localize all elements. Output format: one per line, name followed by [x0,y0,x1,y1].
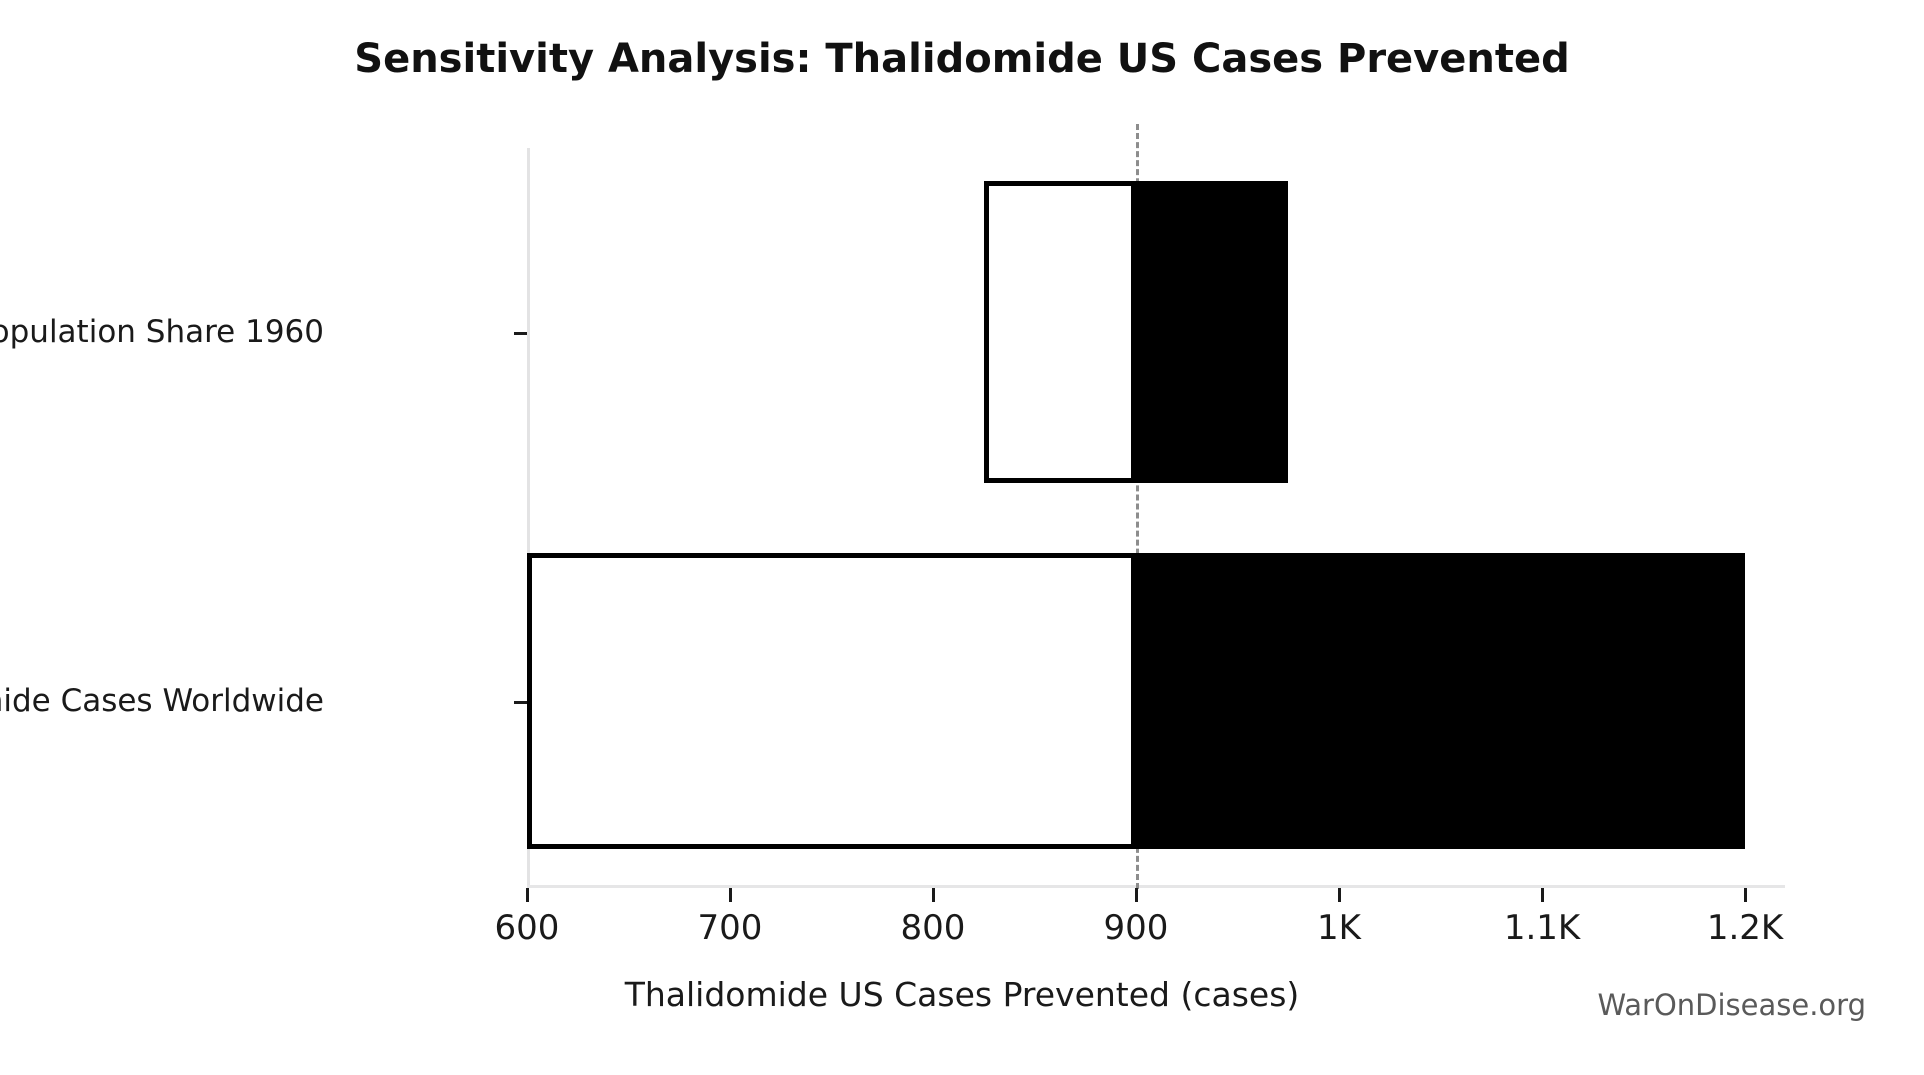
x-tick-mark [932,888,935,902]
x-tick-label: 800 [901,908,966,948]
x-tick-label: 1.2K [1707,908,1783,948]
bar-segment-low[interactable] [984,181,1136,483]
x-tick-label: 1K [1317,908,1361,948]
bar-segment-low[interactable] [527,553,1136,849]
bar-segment-high[interactable] [1136,181,1288,483]
y-tick-label: Thalidomide Cases Worldwide [0,683,324,719]
chart-title: Sensitivity Analysis: Thalidomide US Cas… [0,36,1924,82]
x-tick-label: 900 [1104,908,1169,948]
x-tick-mark [1135,888,1138,902]
y-tick-mark [514,332,527,335]
x-tick-mark [526,888,529,902]
x-tick-mark [1541,888,1544,902]
x-tick-label: 600 [495,908,560,948]
y-tick-mark [514,701,527,704]
x-tick-label: 700 [698,908,763,948]
y-tick-label: US Population Share 1960 [0,314,324,350]
sensitivity-chart: Sensitivity Analysis: Thalidomide US Cas… [0,0,1924,1075]
plot-area: US Population Share 1960Thalidomide Case… [527,148,1745,885]
x-tick-label: 1.1K [1504,908,1580,948]
x-tick-mark [729,888,732,902]
x-tick-mark [1338,888,1341,902]
x-axis-spine [527,885,1785,888]
watermark: WarOnDisease.org [1597,988,1866,1022]
bar-segment-high[interactable] [1136,553,1745,849]
x-tick-mark [1744,888,1747,902]
